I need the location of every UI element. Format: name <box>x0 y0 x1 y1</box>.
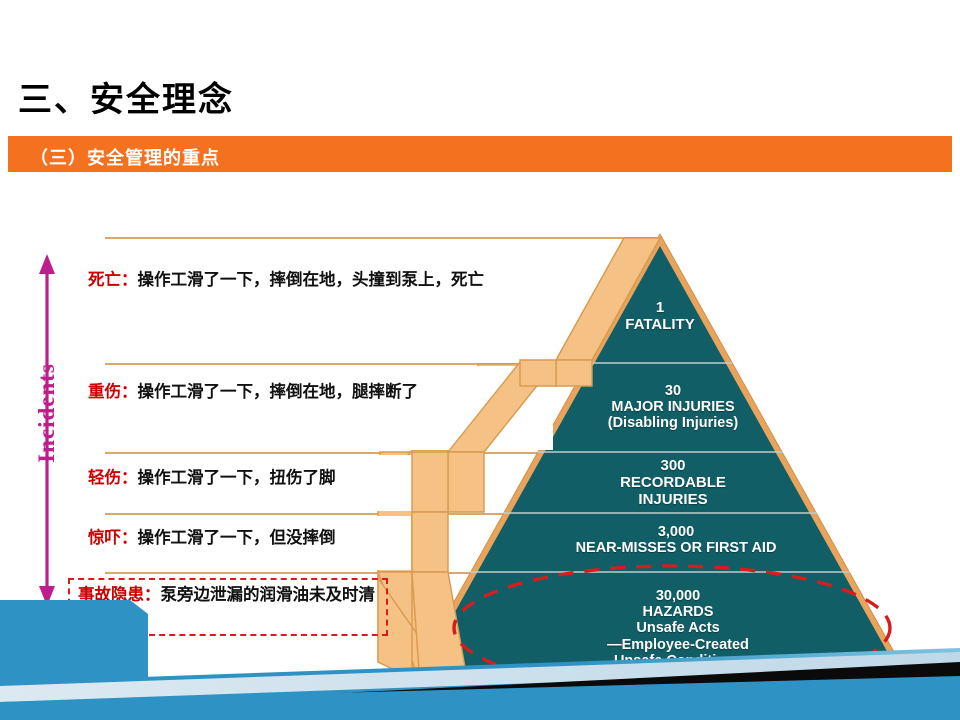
slide-canvas: 三、安全理念 （三）安全管理的重点 <box>0 0 960 720</box>
pyramid-tier-label-2: 300 RECORDABLE INJURIES <box>588 458 758 508</box>
callout-fatality-body: 操作工滑了一下，摔倒在地，头撞到泵上，死亡 <box>138 271 485 289</box>
section-header-bar: （三）安全管理的重点 <box>8 136 952 172</box>
pyramid-tier-label-3: 3,000 NEAR-MISSES OR FIRST AID <box>530 524 822 556</box>
page-title: 三、安全理念 <box>18 72 234 121</box>
tier-guide-line-4 <box>105 572 477 574</box>
pyramid-tier-label-0: 1 FATALITY <box>600 300 720 334</box>
deco-blue-left-block <box>0 600 148 682</box>
section-header-label: （三）安全管理的重点 <box>30 144 220 170</box>
callout-fatality: 死亡：操作工滑了一下，摔倒在地，头撞到泵上，死亡 <box>88 270 518 291</box>
callout-near-miss-body: 操作工滑了一下，但没摔倒 <box>138 529 336 547</box>
incidents-axis: Incidents <box>18 250 76 610</box>
tier-guide-line-2 <box>105 452 537 454</box>
incidents-axis-label: Incidents <box>34 338 60 488</box>
callout-near-miss: 惊吓：操作工滑了一下，但没摔倒 <box>88 528 418 549</box>
callout-major-injury-tag: 重伤： <box>88 383 138 401</box>
pyramid-tier-label-1: 30 MAJOR INJURIES (Disabling Injuries) <box>578 383 768 432</box>
callout-near-miss-tag: 惊吓： <box>88 529 138 547</box>
callout-major-injury-body: 操作工滑了一下，摔倒在地，腿摔断了 <box>138 383 419 401</box>
callout-minor-injury-body: 操作工滑了一下，扭伤了脚 <box>138 469 336 487</box>
callout-minor-injury: 轻伤：操作工滑了一下，扭伤了脚 <box>88 468 448 489</box>
callout-major-injury: 重伤：操作工滑了一下，摔倒在地，腿摔断了 <box>88 382 538 403</box>
tier-guide-line-0 <box>105 237 661 239</box>
callout-minor-injury-tag: 轻伤： <box>88 469 138 487</box>
tier-guide-line-3 <box>105 513 505 515</box>
slide-bottom-decoration <box>0 590 960 720</box>
tier-guide-line-1 <box>105 363 581 365</box>
callout-fatality-tag: 死亡： <box>88 271 138 289</box>
